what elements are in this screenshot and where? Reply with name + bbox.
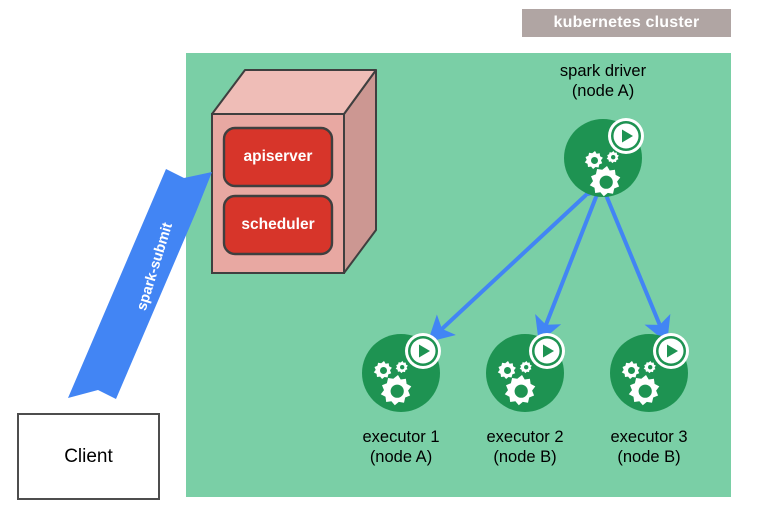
scheduler-label-wrap: scheduler <box>224 196 332 254</box>
executor-1-label-line1: executor 1 <box>341 428 461 447</box>
apiserver-label-wrap: apiserver <box>224 128 332 186</box>
scheduler-label: scheduler <box>224 196 332 254</box>
executor-2-label-line2: (node B) <box>465 448 585 467</box>
executor-3-label-line1: executor 3 <box>589 428 709 447</box>
spark-driver-label-line2: (node A) <box>523 82 683 101</box>
spark-driver-label-line1: spark driver <box>523 62 683 81</box>
apiserver-label: apiserver <box>224 128 332 186</box>
executor-3-label-line2: (node B) <box>589 448 709 467</box>
client-label: Client <box>18 414 159 499</box>
executor-2-label-line1: executor 2 <box>465 428 585 447</box>
kubernetes-cluster-badge: kubernetes cluster <box>522 9 731 37</box>
executor-1-label-line2: (node A) <box>341 448 461 467</box>
diagram-canvas: kubernetes cluster apiserver scheduler s… <box>0 0 761 516</box>
